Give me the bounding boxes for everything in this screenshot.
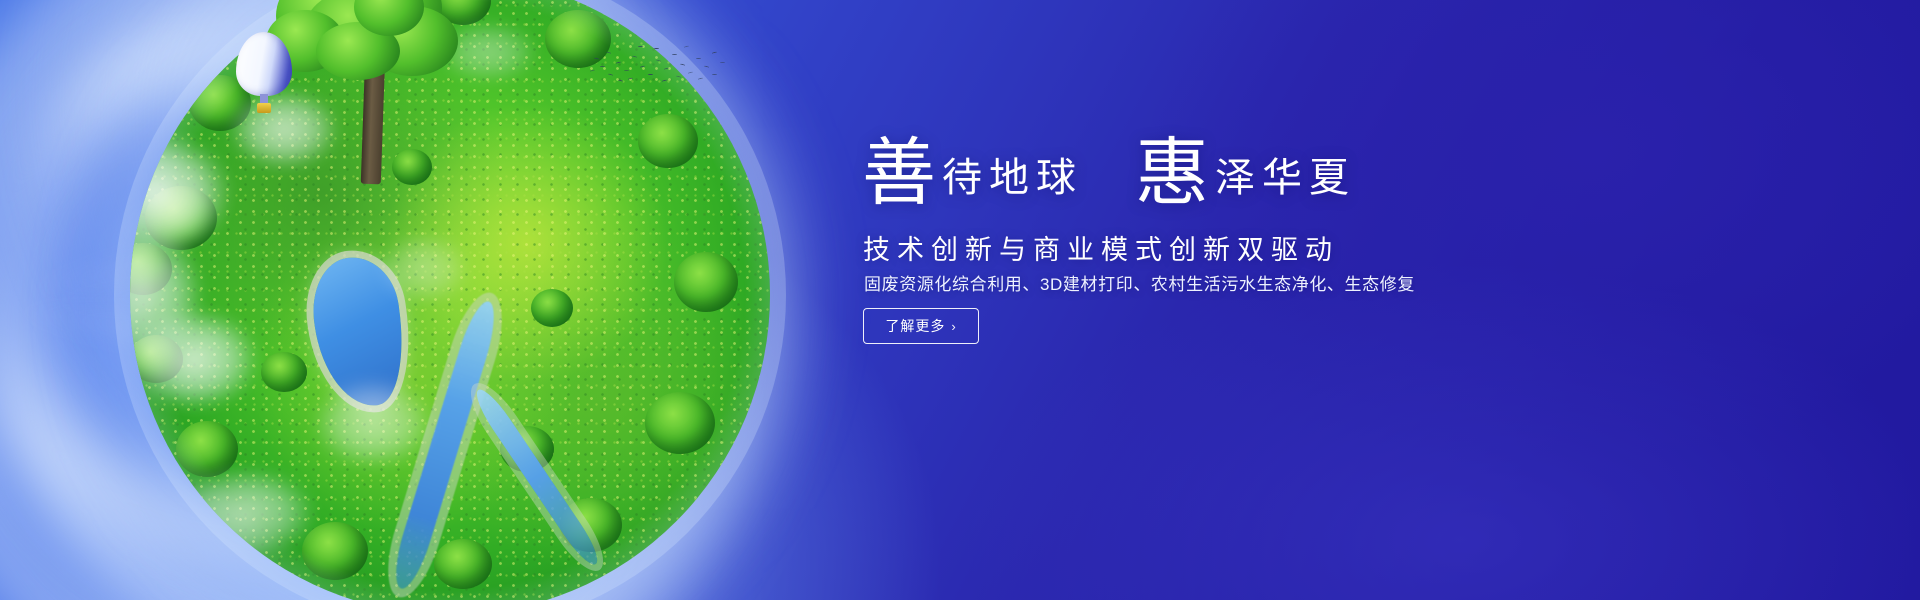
banner-content: 善 待地球 惠 泽华夏 技术创新与商业模式创新双驱动 固废资源化综合利用、3D建… bbox=[862, 0, 1862, 600]
banner-description: 固废资源化综合利用、3D建材打印、农村生活污水生态净化、生态修复 bbox=[864, 270, 1415, 295]
learn-more-button[interactable]: 了解更多 › bbox=[863, 308, 979, 344]
headline-part2-small: 泽华夏 bbox=[1215, 158, 1356, 208]
balloon-envelope bbox=[236, 32, 292, 96]
hot-air-balloon-icon bbox=[236, 32, 292, 118]
balloon-basket bbox=[257, 103, 271, 113]
bird-flock-icon bbox=[588, 44, 728, 92]
learn-more-label: 了解更多 bbox=[885, 316, 945, 336]
chevron-right-icon: › bbox=[951, 319, 956, 334]
hero-banner: 善 待地球 惠 泽华夏 技术创新与商业模式创新双驱动 固废资源化综合利用、3D建… bbox=[0, 0, 1920, 600]
headline-part2-big: 惠 bbox=[1135, 140, 1209, 208]
headline-part1-big: 善 bbox=[862, 140, 936, 208]
headline-part1-small: 待地球 bbox=[942, 158, 1083, 208]
banner-subtitle: 技术创新与商业模式创新双驱动 bbox=[863, 228, 1339, 267]
headline: 善 待地球 惠 泽华夏 bbox=[862, 140, 1356, 208]
